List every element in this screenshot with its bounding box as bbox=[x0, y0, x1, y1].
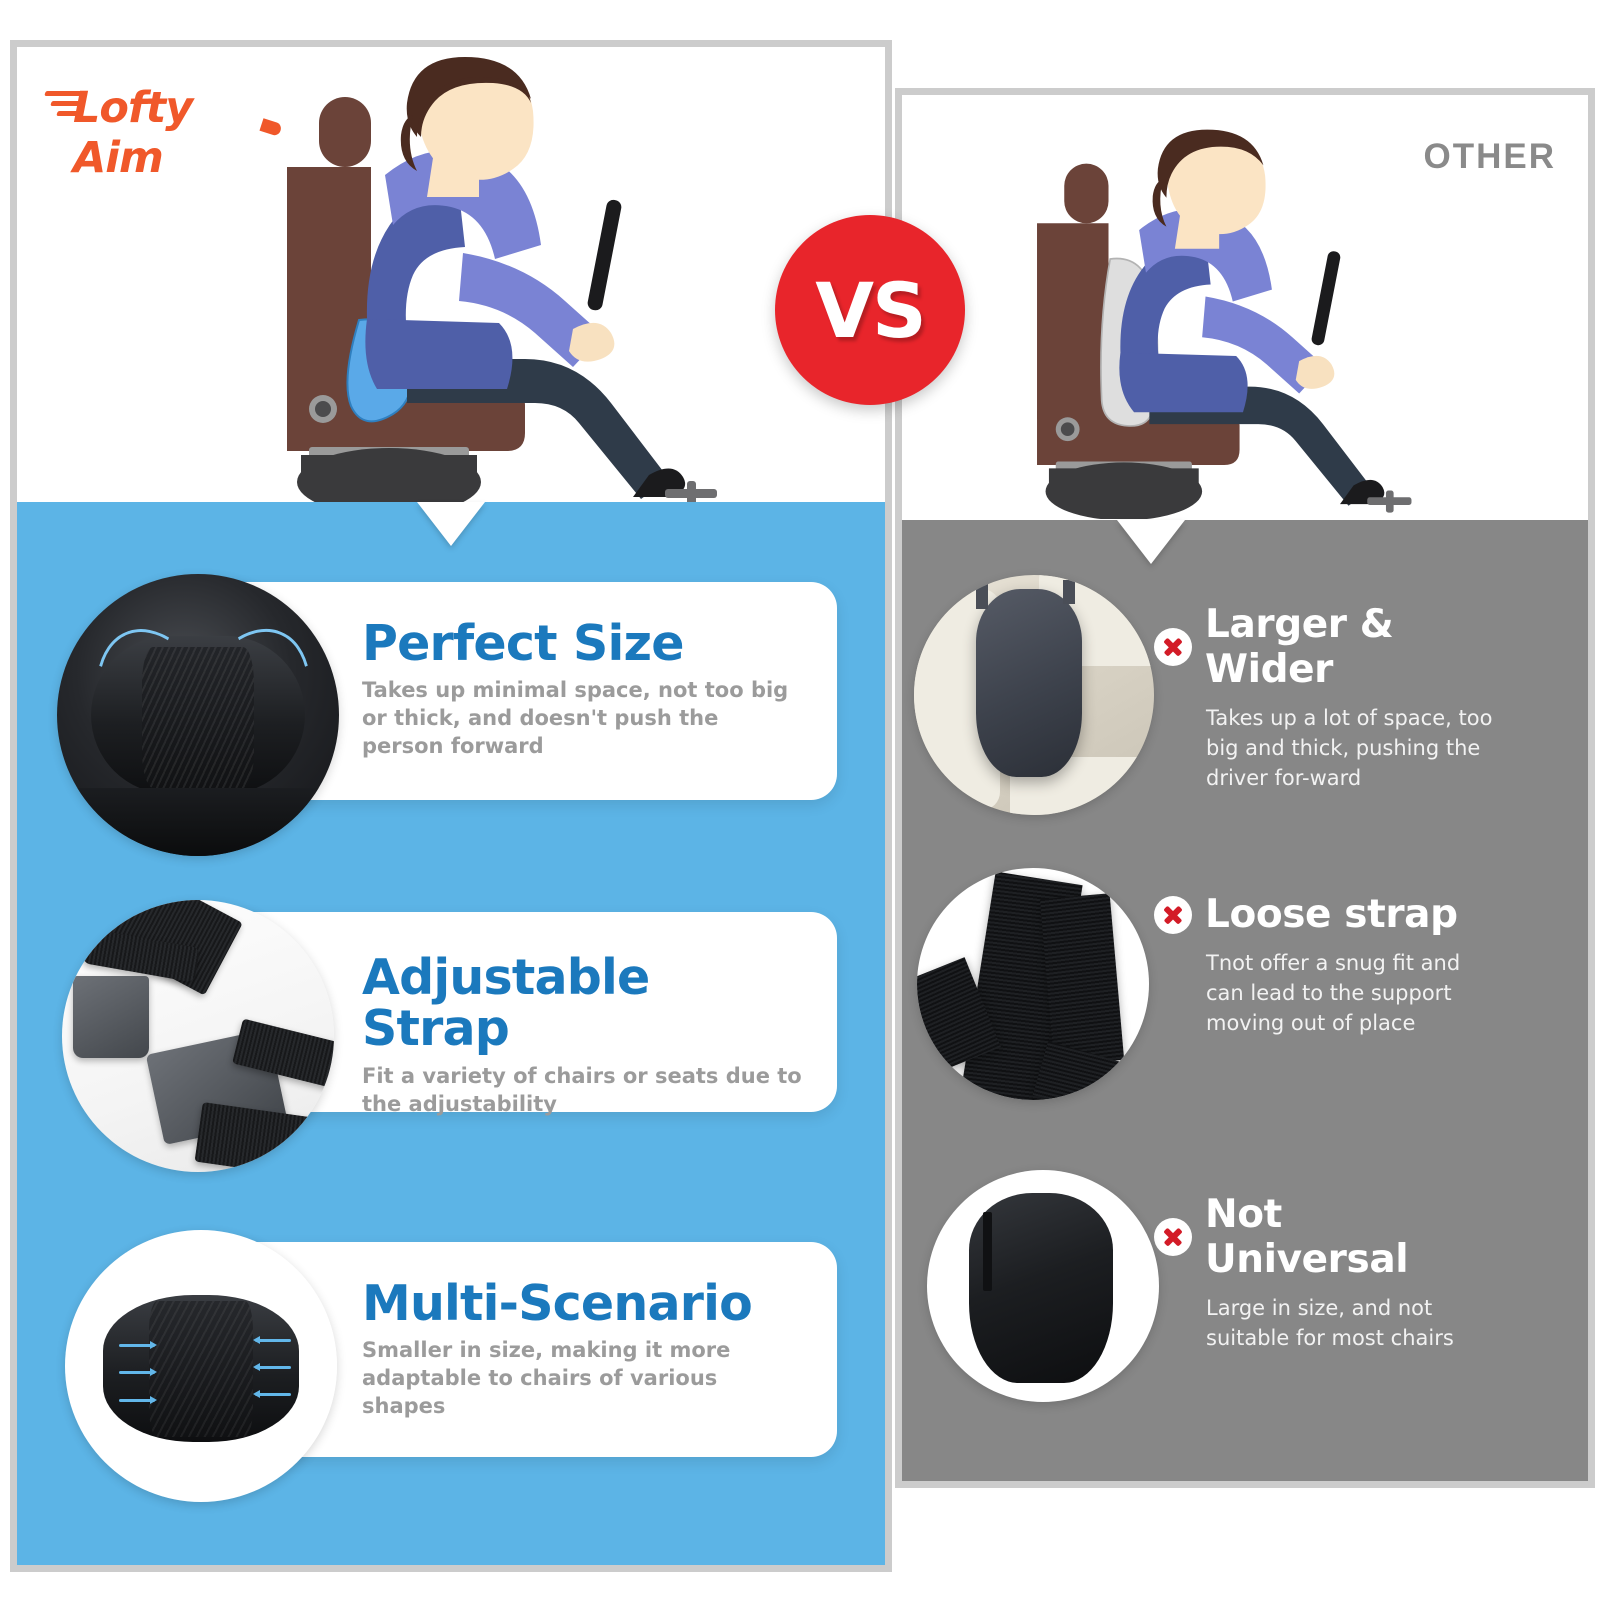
con-item-loose-strap[interactable]: Loose strap Tnot offer a snug fit and ca… bbox=[1154, 892, 1494, 1038]
left-panel-pointer bbox=[417, 502, 485, 546]
feature-image-multi-scenario bbox=[65, 1230, 337, 1502]
right-panel-illustration-area: OTHER bbox=[902, 95, 1588, 520]
right-other-panel: OTHER bbox=[895, 88, 1595, 1488]
brand-logo: Lofty Aim bbox=[45, 85, 275, 141]
con-image-not-universal bbox=[927, 1170, 1159, 1402]
con-title: Not Universal bbox=[1205, 1192, 1494, 1282]
illustration-driver-bulky-support bbox=[1020, 119, 1420, 519]
feature-image-adjustable-strap bbox=[62, 900, 334, 1172]
feature-title: Adjustable Strap bbox=[362, 952, 802, 1055]
con-image-loose-strap bbox=[917, 868, 1149, 1100]
right-cons-area: Larger & Wider Takes up a lot of space, … bbox=[902, 520, 1588, 1481]
x-circle-icon bbox=[1154, 896, 1192, 934]
left-panel-illustration-area: Lofty Aim bbox=[17, 47, 885, 502]
con-title: Loose strap bbox=[1205, 892, 1458, 937]
feature-title: Perfect Size bbox=[362, 618, 792, 669]
con-item-larger-wider[interactable]: Larger & Wider Takes up a lot of space, … bbox=[1154, 602, 1494, 793]
left-product-panel: Lofty Aim bbox=[10, 40, 892, 1572]
other-label: OTHER bbox=[1424, 137, 1557, 177]
feature-title: Multi-Scenario bbox=[362, 1278, 782, 1329]
con-desc: Tnot offer a snug fit and can lead to th… bbox=[1206, 949, 1494, 1038]
comparison-infographic: Lofty Aim bbox=[0, 0, 1600, 1600]
con-desc: Large in size, and not suitable for most… bbox=[1206, 1294, 1494, 1354]
con-title: Larger & Wider bbox=[1205, 602, 1494, 692]
right-panel-pointer bbox=[1117, 520, 1185, 564]
x-circle-icon bbox=[1154, 1218, 1192, 1256]
left-features-area: Perfect Size Takes up minimal space, not… bbox=[17, 502, 885, 1565]
feature-image-perfect-size bbox=[57, 574, 339, 856]
vs-badge: VS bbox=[775, 215, 965, 405]
con-item-not-universal[interactable]: Not Universal Large in size, and not sui… bbox=[1154, 1192, 1494, 1354]
feature-desc: Takes up minimal space, not too big or t… bbox=[362, 677, 792, 760]
vs-label: VS bbox=[815, 266, 925, 355]
brand-logo-text: Lofty Aim bbox=[73, 83, 275, 183]
illustration-driver-good-posture bbox=[267, 57, 737, 502]
feature-desc: Fit a variety of chairs or seats due to … bbox=[362, 1063, 802, 1118]
con-image-larger-wider bbox=[914, 575, 1154, 815]
con-desc: Takes up a lot of space, too big and thi… bbox=[1206, 704, 1494, 793]
x-circle-icon bbox=[1154, 628, 1192, 666]
feature-desc: Smaller in size, making it more adaptabl… bbox=[362, 1337, 782, 1420]
